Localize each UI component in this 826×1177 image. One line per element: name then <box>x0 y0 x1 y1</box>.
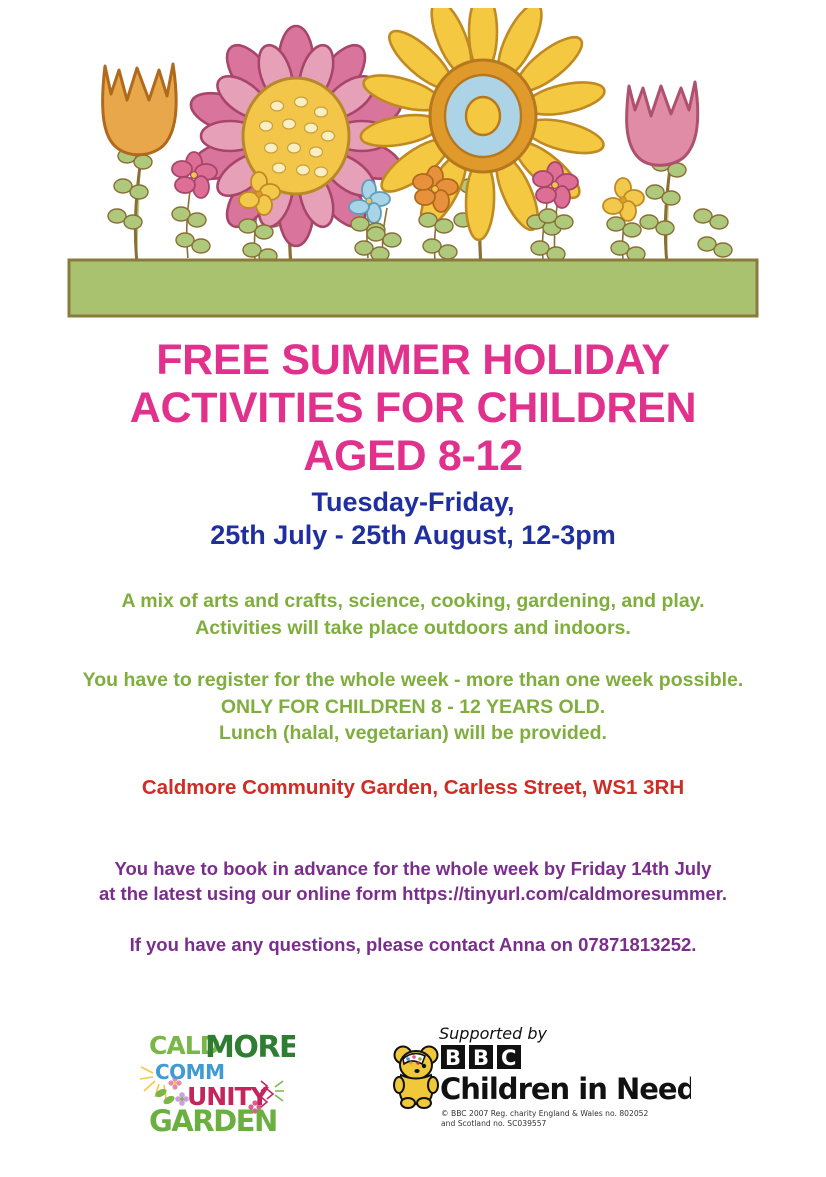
dates-line-1: Tuesday-Friday, <box>0 486 826 519</box>
headline-line-1: FREE SUMMER HOLIDAY <box>0 336 826 384</box>
bbc-block-letter-3: C <box>501 1046 516 1070</box>
venue-address: Caldmore Community Garden, Carless Stree… <box>0 776 826 800</box>
page-title: FREE SUMMER HOLIDAY ACTIVITIES FOR CHILD… <box>0 336 826 480</box>
booking-line-2: at the latest using our online form http… <box>0 881 826 906</box>
fine-print-line-2: and Scotland no. SC039557 <box>441 1119 547 1128</box>
booking-line-1: You have to book in advance for the whol… <box>0 856 826 881</box>
registration-line-2: ONLY FOR CHILDREN 8 - 12 YEARS OLD. <box>0 694 826 721</box>
dates-block: Tuesday-Friday, 25th July - 25th August,… <box>0 486 826 552</box>
activities-line-1: A mix of arts and crafts, science, cooki… <box>0 588 826 615</box>
booking-paragraph: You have to book in advance for the whol… <box>0 856 826 906</box>
booking-block: You have to book in advance for the whol… <box>0 856 826 957</box>
activities-line-2: Activities will take place outdoors and … <box>0 615 826 642</box>
registration-line-1: You have to register for the whole week … <box>0 667 826 694</box>
headline-block: FREE SUMMER HOLIDAY ACTIVITIES FOR CHILD… <box>0 336 826 480</box>
caldmore-community-garden-logo: CALD MORE COMM UNITY GARDEN <box>135 1021 295 1139</box>
small-yellow-flower <box>603 178 644 221</box>
registration-line-3: Lunch (halal, vegetarian) will be provid… <box>0 720 826 747</box>
bbc-block-letter-1: B <box>445 1046 461 1070</box>
details-block: A mix of arts and crafts, science, cooki… <box>0 588 826 747</box>
headline-line-3: AGED 8-12 <box>0 432 826 480</box>
orange-tulip <box>103 64 177 263</box>
supported-by-text: Supported by <box>439 1024 547 1043</box>
garden-flowers-illustration <box>63 8 763 328</box>
fine-print-line-1: © BBC 2007 Reg. charity England & Wales … <box>441 1109 648 1118</box>
registration-paragraph: You have to register for the whole week … <box>0 667 826 747</box>
poster-page: FREE SUMMER HOLIDAY ACTIVITIES FOR CHILD… <box>0 8 826 1177</box>
logo-word-garden: GARDEN <box>149 1104 277 1138</box>
bbc-blocks: B B C <box>441 1045 521 1070</box>
activities-paragraph: A mix of arts and crafts, science, cooki… <box>0 588 826 641</box>
contact-line-1: If you have any questions, please contac… <box>0 932 826 957</box>
ground-bar <box>69 260 757 316</box>
address-block: Caldmore Community Garden, Carless Stree… <box>0 776 826 800</box>
dates-line-2: 25th July - 25th August, 12-3pm <box>0 519 826 552</box>
sprig-decoration <box>275 1081 284 1101</box>
logo-word-comm: COMM <box>155 1060 224 1084</box>
bbc-children-in-need-logo: Supported by <box>391 1019 691 1139</box>
pudsey-bear-icon <box>394 1047 438 1109</box>
pink-tulip <box>627 82 698 264</box>
bbc-block-letter-2: B <box>473 1046 489 1070</box>
headline-line-2: ACTIVITIES FOR CHILDREN <box>0 384 826 432</box>
contact-paragraph: If you have any questions, please contac… <box>0 932 826 957</box>
event-dates: Tuesday-Friday, 25th July - 25th August,… <box>0 486 826 552</box>
footer-logos: CALD MORE COMM UNITY GARDEN Supported by <box>0 1019 826 1139</box>
children-in-need-wordmark: Children in Need <box>440 1072 691 1106</box>
